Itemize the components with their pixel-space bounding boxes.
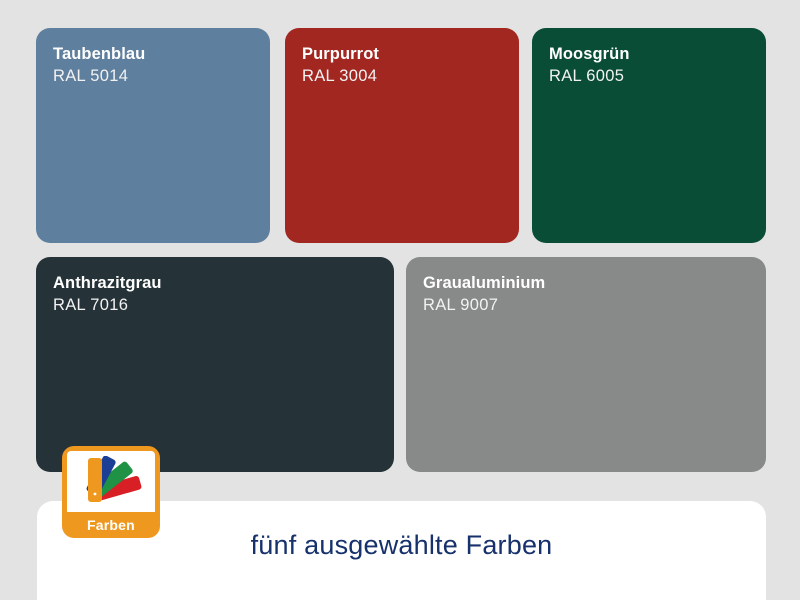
swatch-name: Moosgrün (549, 44, 766, 65)
swatch-label-group: Graualuminium RAL 9007 (406, 257, 766, 316)
swatch-label-group: Anthrazitgrau RAL 7016 (36, 257, 394, 316)
swatch-code: RAL 6005 (549, 66, 766, 87)
logo-caption: Farben (67, 512, 155, 538)
logo-plate (67, 451, 155, 512)
color-palette-page: Taubenblau RAL 5014 Purpurrot RAL 3004 M… (0, 0, 800, 600)
color-swatch-graualuminium[interactable]: Graualuminium RAL 9007 (406, 257, 766, 472)
swatch-name: Purpurrot (302, 44, 519, 65)
swatch-name: Anthrazitgrau (53, 273, 394, 294)
swatch-code: RAL 7016 (53, 295, 394, 316)
swatch-code: RAL 5014 (53, 66, 270, 87)
color-swatch-anthrazitgrau[interactable]: Anthrazitgrau RAL 7016 (36, 257, 394, 472)
swatch-label-group: Taubenblau RAL 5014 (36, 28, 270, 87)
color-fan-deck-icon (79, 456, 145, 508)
color-swatch-purpurrot[interactable]: Purpurrot RAL 3004 (285, 28, 519, 243)
color-swatch-moosgruen[interactable]: Moosgrün RAL 6005 (532, 28, 766, 243)
color-swatch-taubenblau[interactable]: Taubenblau RAL 5014 (36, 28, 270, 243)
swatch-name: Graualuminium (423, 273, 766, 294)
swatch-label-group: Moosgrün RAL 6005 (532, 28, 766, 87)
swatch-code: RAL 3004 (302, 66, 519, 87)
swatch-label-group: Purpurrot RAL 3004 (285, 28, 519, 87)
farben-logo-badge[interactable]: Farben (62, 446, 160, 538)
swatch-code: RAL 9007 (423, 295, 766, 316)
swatch-name: Taubenblau (53, 44, 270, 65)
